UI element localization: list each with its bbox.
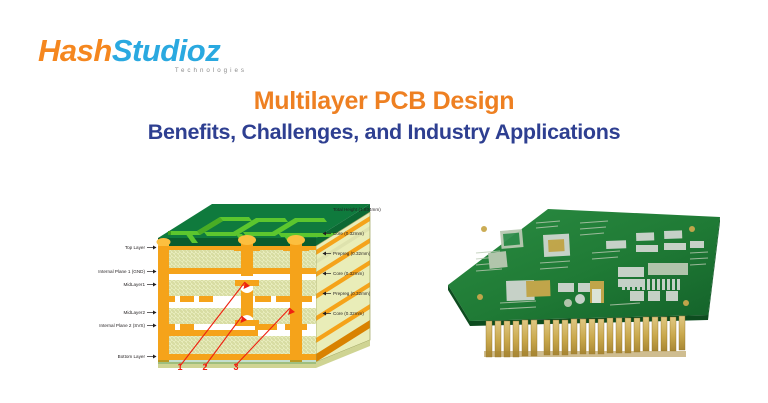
banner-image: HashStudioz Technologies Multilayer PCB … [0, 0, 768, 403]
multilayer-pcb-stackup-diagram: Top Layer Internal Plane 1 (GND) MidLaye… [40, 190, 430, 370]
label-prepreg-1: Prepreg (0.32mm) [333, 251, 371, 256]
multilayer-pcb-photograph [440, 193, 730, 378]
callout-3: 3 [233, 362, 238, 370]
label-core-3: Core (0.32mm) [333, 311, 364, 316]
callout-2: 2 [202, 362, 207, 370]
callout-1: 1 [177, 362, 182, 370]
stackup-3d-body [157, 204, 371, 368]
page-subtitle: Benefits, Challenges, and Industry Appli… [0, 118, 768, 146]
label-midlayer2: MidLayer2 [124, 310, 146, 315]
label-prepreg-2: Prepreg (0.32mm) [333, 291, 371, 296]
label-top-layer: Top Layer [125, 245, 146, 250]
logo-wordmark: HashStudioz [38, 36, 253, 66]
stackup-left-arrows [147, 246, 157, 359]
label-core-1: Core (0.32mm) [333, 231, 364, 236]
pcb-edge-connector-fingers [484, 315, 692, 358]
label-midlayer1: MidLayer1 [124, 282, 146, 287]
hashstudioz-logo[interactable]: HashStudioz Technologies [38, 36, 253, 76]
label-bottom-layer: Bottom Layer [118, 354, 146, 359]
label-internal-plane-1: Internal Plane 1 (GND) [98, 269, 145, 274]
label-total-height: Total Height (1.834mm) [333, 207, 381, 212]
title-block: Multilayer PCB Design Benefits, Challeng… [0, 86, 768, 146]
logo-hash-text: Hash [38, 33, 112, 68]
page-title: Multilayer PCB Design [0, 86, 768, 116]
logo-studioz-text: Studioz [112, 33, 220, 68]
stackup-left-labels: Top Layer Internal Plane 1 (GND) MidLaye… [98, 245, 145, 359]
label-core-2: Core (0.32mm) [333, 271, 364, 276]
pcb-board [448, 209, 720, 326]
label-internal-plane-2: Internal Plane 2 (SVS) [99, 323, 145, 328]
logo-tagline: Technologies [38, 67, 253, 74]
